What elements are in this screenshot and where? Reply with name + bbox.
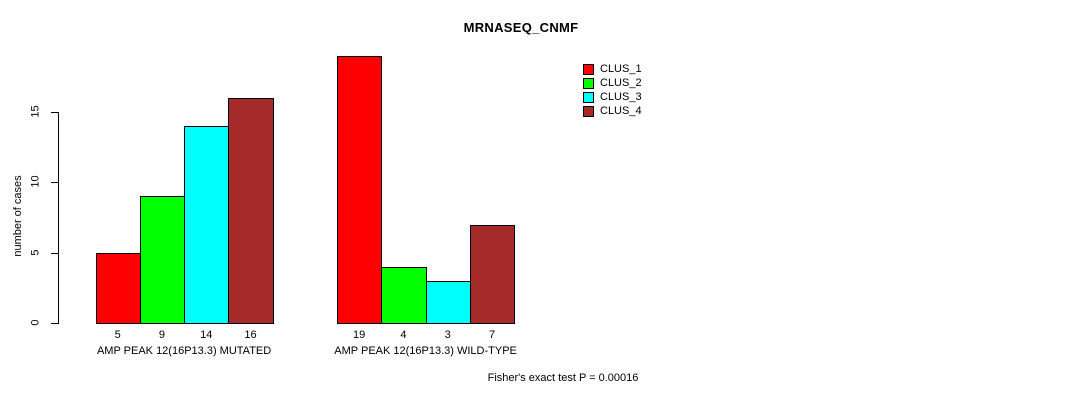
y-axis-line (58, 112, 59, 324)
bar[interactable] (426, 281, 471, 324)
group-label: AMP PEAK 12(16P13.3) WILD-TYPE (276, 344, 576, 358)
legend-item[interactable]: CLUS_3 (583, 90, 642, 104)
legend-color-swatch (583, 64, 594, 75)
legend-color-swatch (583, 78, 594, 89)
bar[interactable] (337, 56, 382, 324)
y-axis-tick-label-text: 0 (31, 313, 42, 333)
bar[interactable] (96, 253, 141, 324)
bar[interactable] (140, 196, 185, 324)
y-axis-tick (51, 253, 58, 254)
bar[interactable] (381, 267, 426, 324)
bar[interactable] (470, 225, 515, 324)
y-axis-tick-label: 5 (26, 246, 46, 260)
bar-value-label: 7 (470, 328, 514, 342)
legend-color-swatch (583, 92, 594, 103)
y-axis-tick-label-text: 15 (31, 102, 42, 122)
y-axis-tick (51, 323, 58, 324)
legend-item[interactable]: CLUS_4 (583, 104, 642, 118)
bar-value-label: 16 (228, 328, 272, 342)
bar-value-label: 4 (381, 328, 425, 342)
bar-value-label: 5 (96, 328, 140, 342)
y-axis-tick (51, 112, 58, 113)
y-axis-tick-label-text: 10 (31, 172, 42, 192)
chart-canvas: MRNASEQ_CNMF 051015 number of cases 5914… (0, 0, 1090, 400)
bar[interactable] (228, 98, 273, 324)
legend-color-swatch (583, 106, 594, 117)
bar-value-label: 3 (426, 328, 470, 342)
bar[interactable] (184, 126, 229, 324)
legend: CLUS_1CLUS_2CLUS_3CLUS_4 (583, 62, 642, 118)
y-axis-tick-label: 0 (26, 316, 46, 330)
y-axis-tick (51, 182, 58, 183)
legend-item[interactable]: CLUS_2 (583, 76, 642, 90)
legend-item[interactable]: CLUS_1 (583, 62, 642, 76)
bar-value-label: 9 (140, 328, 184, 342)
statistical-annotation: Fisher's exact test P = 0.00016 (0, 372, 1090, 384)
legend-item-label: CLUS_3 (600, 92, 642, 103)
legend-item-label: CLUS_2 (600, 78, 642, 89)
y-axis-tick-label-text: 5 (31, 242, 42, 262)
plot-area: 051015 number of cases 591416AMP PEAK 12… (0, 0, 1090, 400)
legend-item-label: CLUS_4 (600, 106, 642, 117)
legend-item-label: CLUS_1 (600, 64, 642, 75)
bar-value-label: 19 (337, 328, 381, 342)
y-axis-tick-label: 10 (26, 175, 46, 189)
y-axis-title: number of cases (12, 156, 24, 276)
statistical-annotation-text: Fisher's exact test P = 0.00016 (488, 372, 639, 384)
bar-value-label: 14 (184, 328, 228, 342)
y-axis-tick-label: 15 (26, 105, 46, 119)
